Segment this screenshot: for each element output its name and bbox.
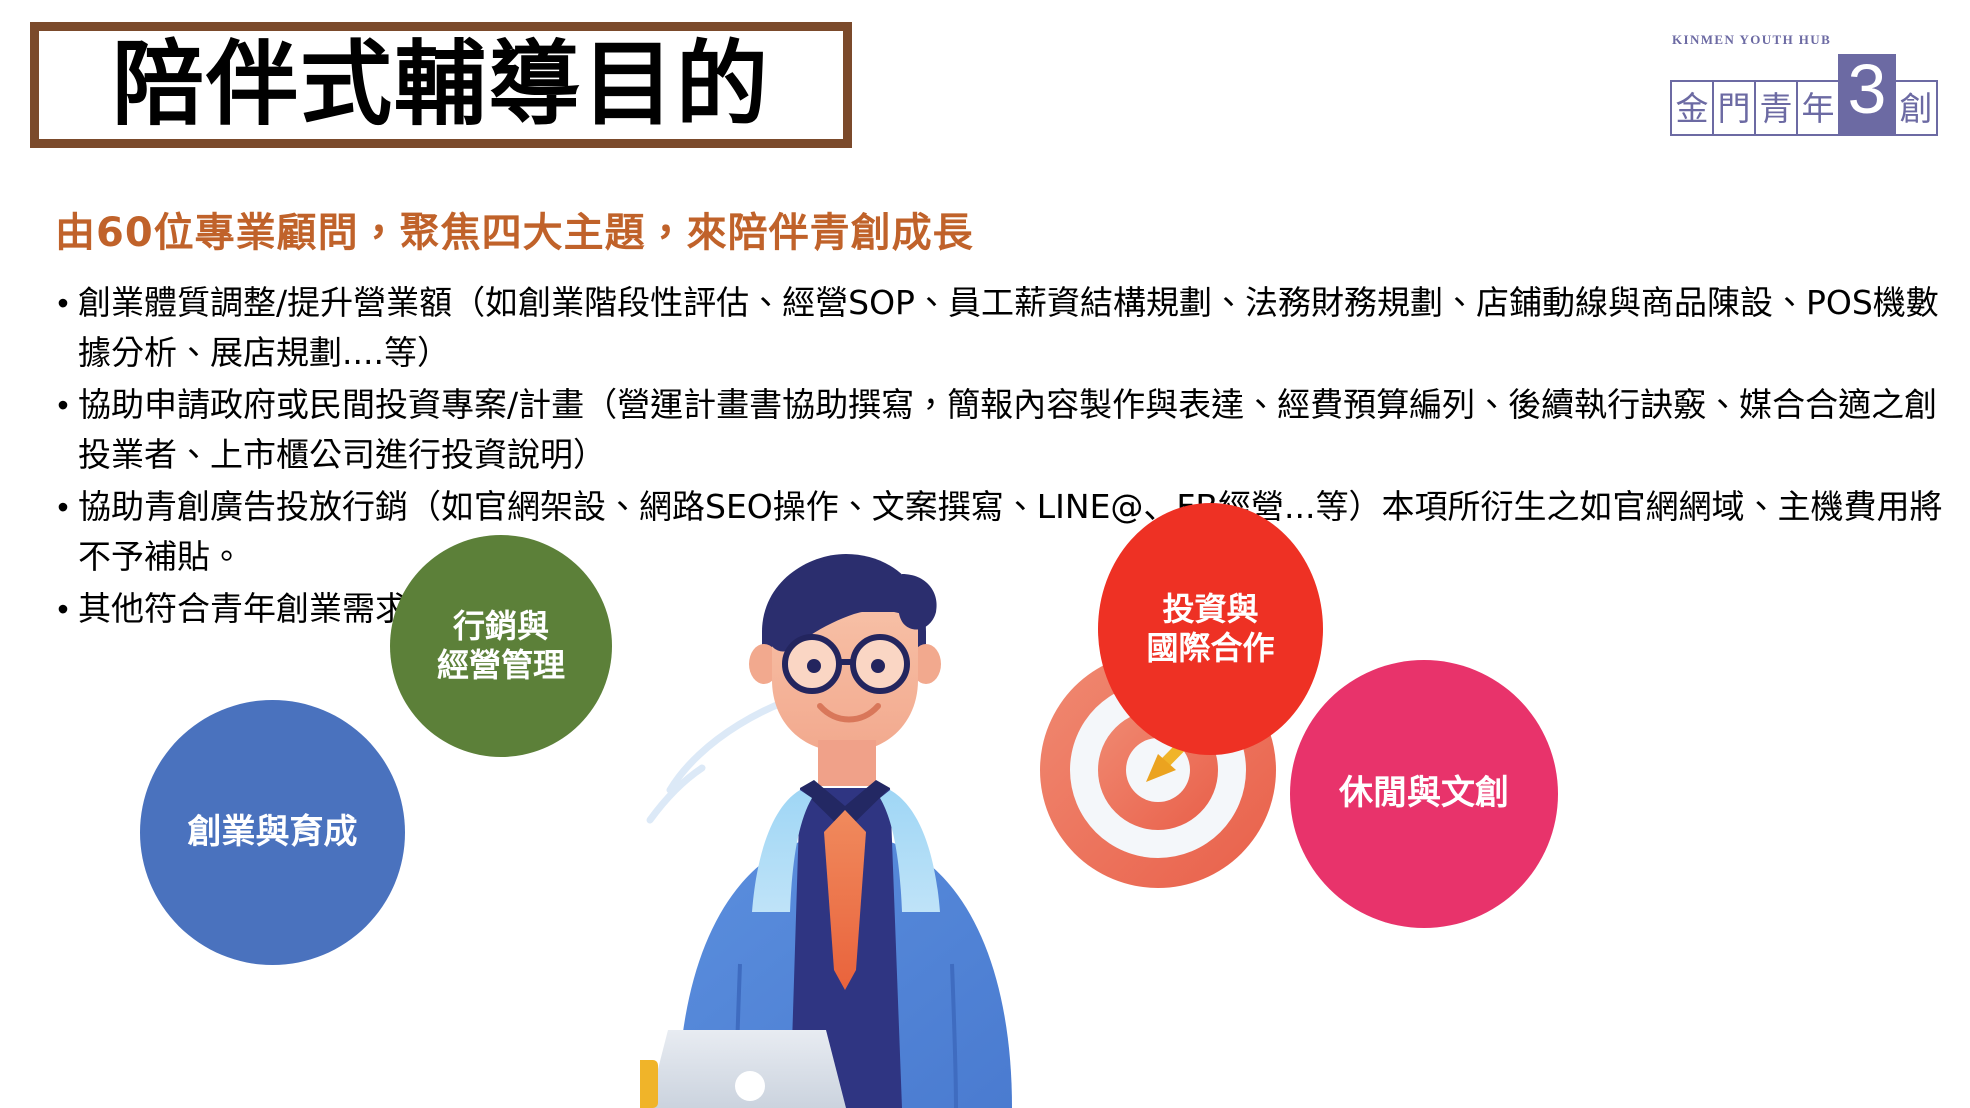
page-title-box: 陪伴式輔導目的 <box>30 22 852 148</box>
bullet-marker-icon: • <box>48 278 78 328</box>
logo-cell-1: 金 <box>1670 80 1714 136</box>
logo-character-row: 金 門 青 年 3 創 <box>1670 54 1936 136</box>
bullet-marker-icon: • <box>48 482 78 532</box>
logo-cell-4: 年 <box>1796 80 1840 136</box>
theme-circle-entrepreneurship[interactable]: 創業與育成 <box>140 700 405 965</box>
slide-root: 陪伴式輔導目的 KINMEN YOUTH HUB 金 門 青 年 3 創 由60… <box>0 0 1970 1108</box>
page-title: 陪伴式輔導目的 <box>112 39 770 131</box>
bullet-marker-icon: • <box>48 584 78 634</box>
logo-cell-5: 創 <box>1894 80 1938 136</box>
logo-cell-2: 門 <box>1712 80 1756 136</box>
list-item: • 創業體質調整/提升營業額（如創業階段性評估、經營SOP、員工薪資結構規劃、法… <box>48 278 1948 378</box>
theme-circle-investment[interactable]: 投資與 國際合作 <box>1098 503 1323 755</box>
subtitle: 由60位專業顧問，聚焦四大主題，來陪伴青創成長 <box>55 200 974 258</box>
theme-circle-label: 創業與育成 <box>188 812 358 853</box>
theme-circle-label-line2: 國際合作 <box>1146 629 1274 668</box>
brand-logo: KINMEN YOUTH HUB 金 門 青 年 3 創 <box>1660 26 1948 122</box>
logo-cell-3: 青 <box>1754 80 1798 136</box>
theme-circle-label: 休閒與文創 <box>1339 773 1509 814</box>
theme-circle-marketing[interactable]: 行銷與 經營管理 <box>390 535 612 757</box>
theme-circle-label-line2: 經營管理 <box>437 646 565 685</box>
bullet-marker-icon: • <box>48 380 78 430</box>
theme-circle-leisure[interactable]: 休閒與文創 <box>1290 660 1558 928</box>
theme-circle-label-line1: 行銷與 <box>437 607 565 646</box>
theme-circle-label-line1: 投資與 <box>1146 590 1274 629</box>
logo-numeral-3: 3 <box>1838 54 1896 136</box>
list-item-text: 創業體質調整/提升營業額（如創業階段性評估、經營SOP、員工薪資結構規劃、法務財… <box>78 278 1948 378</box>
list-item-text: 協助申請政府或民間投資專案/計畫（營運計畫書協助撰寫，簡報內容製作與表達、經費預… <box>78 380 1948 480</box>
list-item: • 協助申請政府或民間投資專案/計畫（營運計畫書協助撰寫，簡報內容製作與表達、經… <box>48 380 1948 480</box>
logo-caption: KINMEN YOUTH HUB <box>1672 32 1831 48</box>
